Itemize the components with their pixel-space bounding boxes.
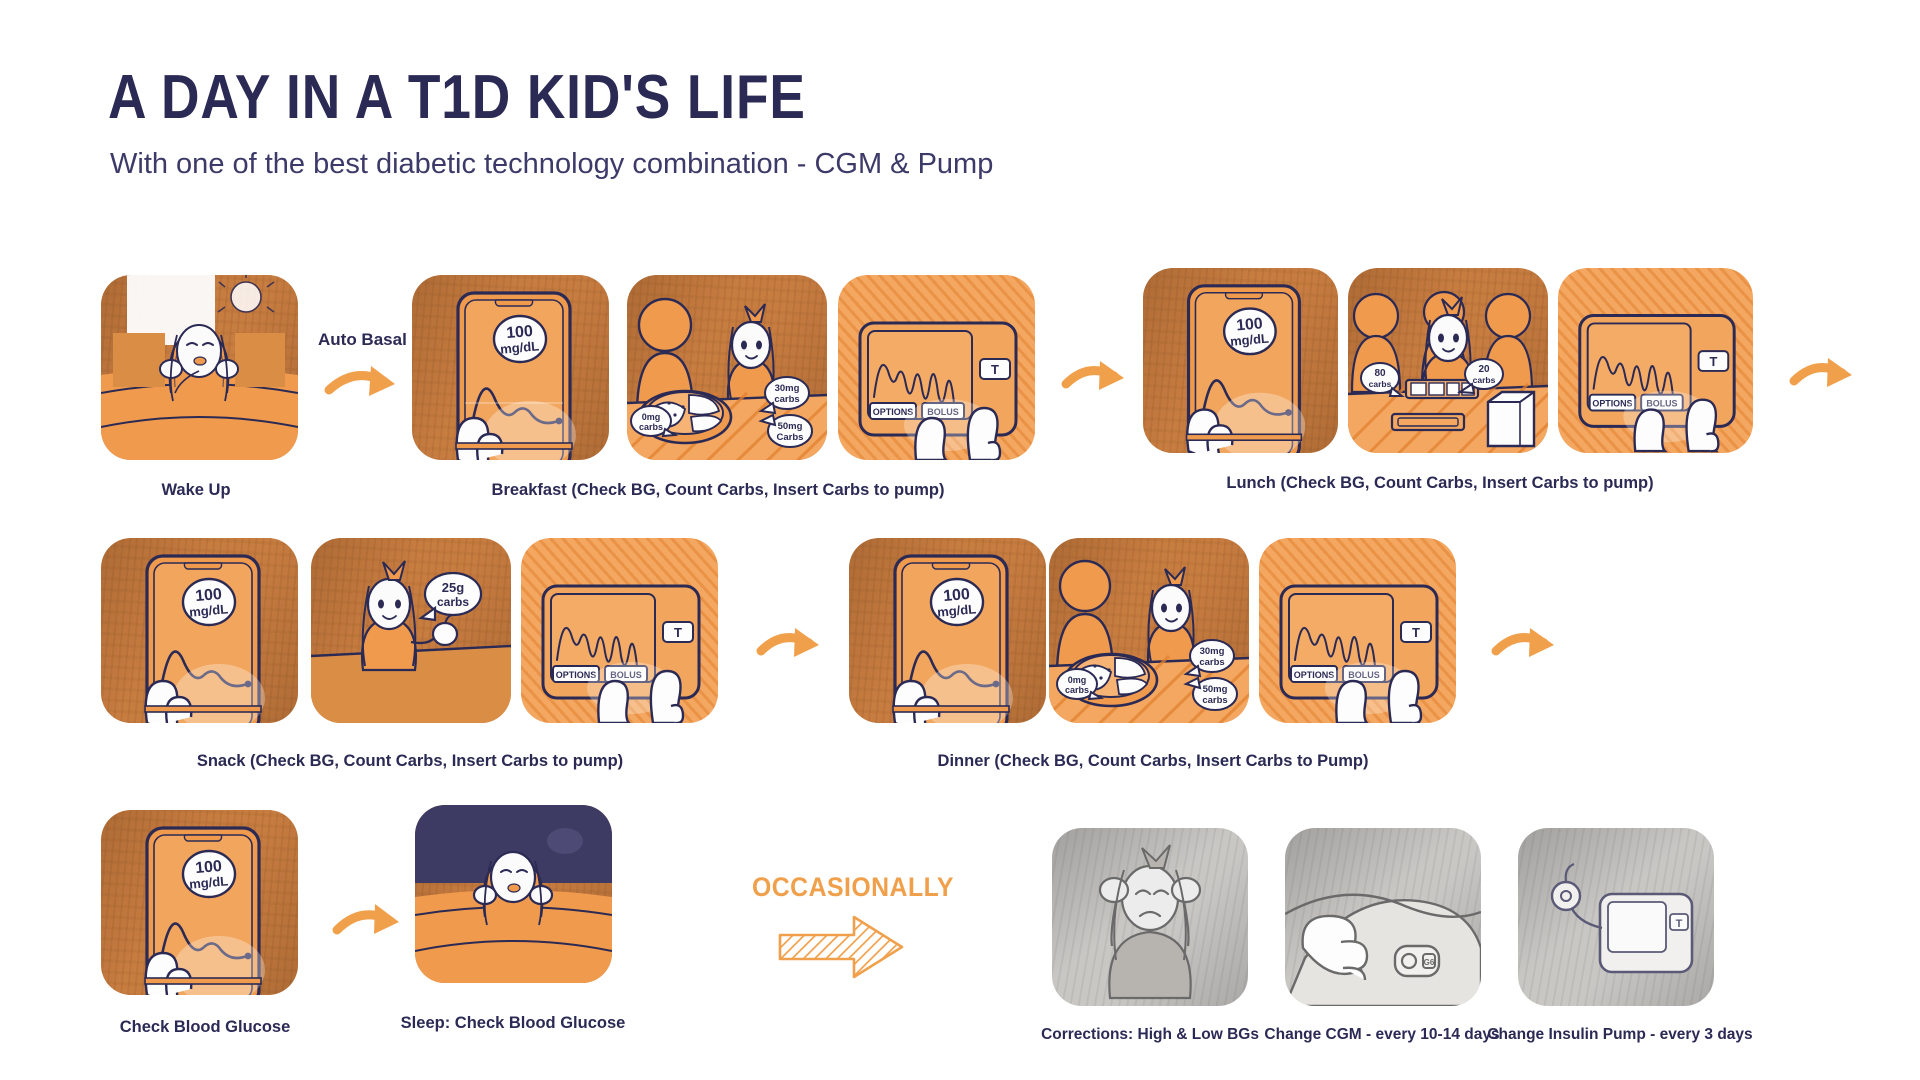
carb-bubble-snack-0-line2: carbs [437,595,469,609]
arrow-occasionally [778,915,908,981]
carb-bubble-dinner-0-line2: carbs [1065,685,1089,695]
insulin-pump-illustration-lunch: T OPTIONS BOLUS [1558,268,1753,451]
insulin-pump-illustration-snack: T OPTIONS BOLUS [521,538,718,723]
panel-breakfast-pump: T OPTIONS BOLUS [838,275,1035,460]
svg-text:T: T [1412,625,1420,640]
pump-tandem-label: T [991,362,999,377]
panel-breakfast-table: 0mg carbs 30mg carbs 50mg Carbs [627,275,827,460]
carb-bubble-1-line2: carbs [774,394,799,405]
svg-text:T: T [1676,918,1683,930]
change-cgm-illustration: G6 [1285,828,1481,1006]
label-occasionally: OCCASIONALLY [752,872,954,903]
corrections-illustration [1052,828,1248,1006]
caption-change-cgm: Change CGM - every 10-14 days [1264,1026,1499,1044]
carb-bubble-lunch-1-line2: carbs [1473,375,1496,385]
wake-up-illustration [101,275,298,460]
panel-wake-up [101,275,298,460]
cgm-phone-illustration-dinner: 100 mg/dL [849,538,1046,723]
caption-sleep: Sleep: Check Blood Glucose [401,1014,626,1033]
carb-bubble-dinner-1-line1: 30mg [1200,646,1225,657]
cgm-phone-illustration-evening: 100 mg/dL [101,810,298,995]
carb-bubble-dinner-0-line1: 0mg [1068,675,1087,685]
carb-bubble-2-line2: Carbs [777,432,804,443]
caption-dinner: Dinner (Check BG, Count Carbs, Insert Ca… [938,752,1369,771]
cgm-phone-illustration-lunch: 100 mg/dL [1143,268,1338,451]
panel-evening-phone: 100 mg/dL [101,810,298,995]
panel-snack-pump: T OPTIONS BOLUS [521,538,718,723]
sleep-illustration [415,805,612,983]
svg-text:T: T [1709,354,1717,369]
cgm-phone-illustration: 100 mg/dL [412,275,609,460]
panel-corrections [1052,828,1248,1006]
carb-bubble-0-line2: carbs [639,422,663,432]
carb-bubble-1-line1: 30mg [775,383,800,394]
panel-lunch-pump: T OPTIONS BOLUS [1558,268,1753,453]
arrow-to-lunch [1062,358,1132,402]
lunch-table-illustration: 80 carbs 20 carbs [1348,268,1548,453]
insulin-pump-illustration-dinner: T OPTIONS BOLUS [1259,538,1456,723]
caption-change-pump: Change Insulin Pump - every 3 days [1487,1026,1752,1044]
panel-dinner-phone: 100 mg/dL [849,538,1046,723]
panel-breakfast-phone: 100 mg/dL [412,275,609,460]
panel-snack-phone: 100 mg/dL [101,538,298,723]
carb-bubble-lunch-0-line2: carbs [1369,379,1392,389]
page-subtitle: With one of the best diabetic technology… [110,148,993,181]
caption-lunch: Lunch (Check BG, Count Carbs, Insert Car… [1226,474,1653,493]
carb-bubble-dinner-2-line2: carbs [1202,695,1227,706]
panel-sleep [415,805,612,983]
carb-bubble-lunch-0-line1: 80 [1374,368,1386,379]
infographic-page: A DAY IN A T1D KID'S LIFE With one of th… [0,0,1920,1080]
label-auto-basal: Auto Basal [318,330,407,350]
panel-change-cgm: G6 [1285,828,1481,1006]
cgm-phone-illustration-snack: 100 mg/dL [101,538,298,723]
arrow-to-sleep [333,900,408,948]
arrow-row1-end [1790,355,1860,399]
carb-bubble-0-line1: 0mg [642,412,661,422]
arrow-auto-basal [325,360,405,410]
caption-check-bg: Check Blood Glucose [120,1018,291,1037]
carb-bubble-dinner-2-line1: 50mg [1203,684,1228,695]
panel-lunch-table: 80 carbs 20 carbs [1348,268,1548,453]
change-pump-illustration: T [1518,828,1714,1006]
caption-breakfast: Breakfast (Check BG, Count Carbs, Insert… [492,481,945,500]
caption-corrections: Corrections: High & Low BGs [1041,1026,1259,1044]
caption-wake-up: Wake Up [161,481,230,500]
snack-illustration: 25g carbs [311,538,511,723]
insulin-pump-illustration: T OPTIONS BOLUS [838,275,1035,460]
svg-text:T: T [674,625,682,640]
dinner-table-illustration: 0mg carbs 30mg carbs 50mg carbs [1049,538,1249,723]
arrow-to-dinner [757,625,827,669]
panel-change-pump: T [1518,828,1714,1006]
carb-bubble-dinner-1-line2: carbs [1199,657,1224,668]
breakfast-table-illustration: 0mg carbs 30mg carbs 50mg Carbs [627,275,827,460]
carb-bubble-snack-0-line1: 25g [442,580,464,595]
svg-text:G6: G6 [1424,958,1435,967]
carb-bubble-lunch-1-line1: 20 [1478,364,1490,375]
page-title: A DAY IN A T1D KID'S LIFE [108,62,806,133]
panel-dinner-pump: T OPTIONS BOLUS [1259,538,1456,723]
carb-bubble-2-line1: 50mg [778,421,803,432]
caption-snack: Snack (Check BG, Count Carbs, Insert Car… [197,752,623,771]
panel-snack-apple: 25g carbs [311,538,511,723]
panel-lunch-phone: 100 mg/dL [1143,268,1338,453]
panel-dinner-table: 0mg carbs 30mg carbs 50mg carbs [1049,538,1249,723]
carb-bubble-snack-0: 25g carbs [421,573,481,620]
arrow-row2-end [1492,625,1562,669]
